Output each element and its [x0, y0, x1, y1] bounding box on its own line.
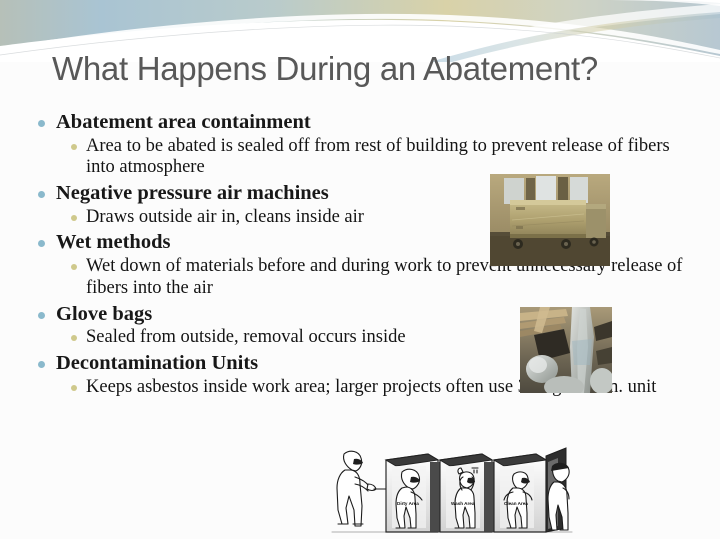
sub-bullet-dot-icon [71, 215, 77, 221]
bullet-heading-text: Decontamination Units [56, 352, 258, 374]
chamber-dirty-area: Dirty Area [386, 454, 440, 532]
sub-bullet-text: Sealed from outside, removal occurs insi… [86, 327, 406, 347]
negative-air-machine-photo [490, 174, 610, 266]
chamber-clean-area: Clean Area [494, 454, 546, 532]
chamber-label-wash: Wash Area [451, 501, 475, 506]
sub-bullet-dot-icon [71, 144, 77, 150]
bullet-dot-icon [38, 120, 45, 127]
slide-title: What Happens During an Abatement? [52, 50, 692, 88]
chamber-label-dirty: Dirty Area [397, 501, 419, 506]
glove-bag-photo [520, 307, 612, 393]
bullet-dot-icon [38, 361, 45, 368]
sub-bullet-item: Area to be abated is sealed off from res… [30, 136, 698, 179]
bullet-dot-icon [38, 191, 45, 198]
bullet-heading-text: Negative pressure air machines [56, 182, 329, 204]
chamber-wash-area: Wash Area [440, 454, 494, 532]
sub-bullet-list-containment: Area to be abated is sealed off from res… [30, 136, 698, 179]
sub-bullet-text: Draws outside air in, cleans inside air [86, 207, 364, 227]
bullet-heading-text: Abatement area containment [56, 111, 311, 133]
sub-bullet-text: Area to be abated is sealed off from res… [86, 136, 670, 178]
sub-bullet-dot-icon [71, 335, 77, 341]
bullet-dot-icon [38, 240, 45, 247]
bullet-heading-containment: Abatement area containment [30, 111, 698, 135]
decontamination-unit-illustration: .ln{fill:none;stroke:#1c1c1c;stroke-widt… [314, 432, 574, 539]
slide: What Happens During an Abatement? Abatem… [0, 0, 720, 539]
bullet-heading-text: Glove bags [56, 303, 152, 325]
bullet-dot-icon [38, 312, 45, 319]
bullet-heading-text: Wet methods [56, 231, 170, 253]
sub-bullet-dot-icon [71, 264, 77, 270]
sub-bullet-dot-icon [71, 385, 77, 391]
chamber-label-clean: Clean Area [504, 501, 528, 506]
